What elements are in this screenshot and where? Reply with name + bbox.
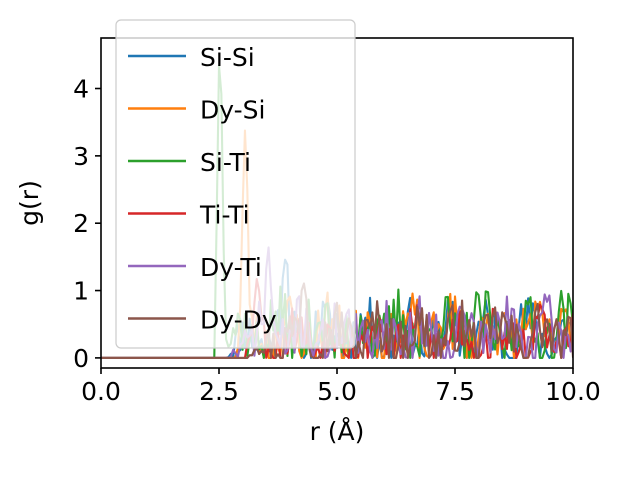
- legend-label-dy-si: Dy-Si: [200, 96, 265, 125]
- ytick-label-2: 2: [73, 209, 89, 238]
- legend-label-si-si: Si-Si: [200, 43, 255, 72]
- legend-label-dy-dy: Dy-Dy: [200, 306, 277, 335]
- xtick-label-3: 7.5: [435, 377, 475, 406]
- rdf-plot: 0.02.55.07.510.001234 Si-SiDy-SiSi-TiTi-…: [0, 0, 640, 480]
- legend-label-ti-ti: Ti-Ti: [199, 201, 250, 230]
- xtick-label-2: 5.0: [317, 377, 357, 406]
- ytick-label-1: 1: [73, 277, 89, 306]
- xtick-label-4: 10.0: [545, 377, 601, 406]
- xtick-label-0: 0.0: [81, 377, 121, 406]
- ytick-label-0: 0: [73, 344, 89, 373]
- figure-canvas: 0.02.55.07.510.001234 Si-SiDy-SiSi-TiTi-…: [0, 0, 640, 480]
- legend: Si-SiDy-SiSi-TiTi-TiDy-TiDy-Dy: [116, 20, 355, 348]
- x-axis-label: r (Å): [310, 417, 365, 446]
- xtick-label-1: 2.5: [199, 377, 239, 406]
- ytick-label-3: 3: [73, 142, 89, 171]
- legend-label-si-ti: Si-Ti: [200, 148, 251, 177]
- legend-label-dy-ti: Dy-Ti: [200, 253, 262, 282]
- y-axis-label: g(r): [15, 180, 44, 226]
- ytick-label-4: 4: [73, 75, 89, 104]
